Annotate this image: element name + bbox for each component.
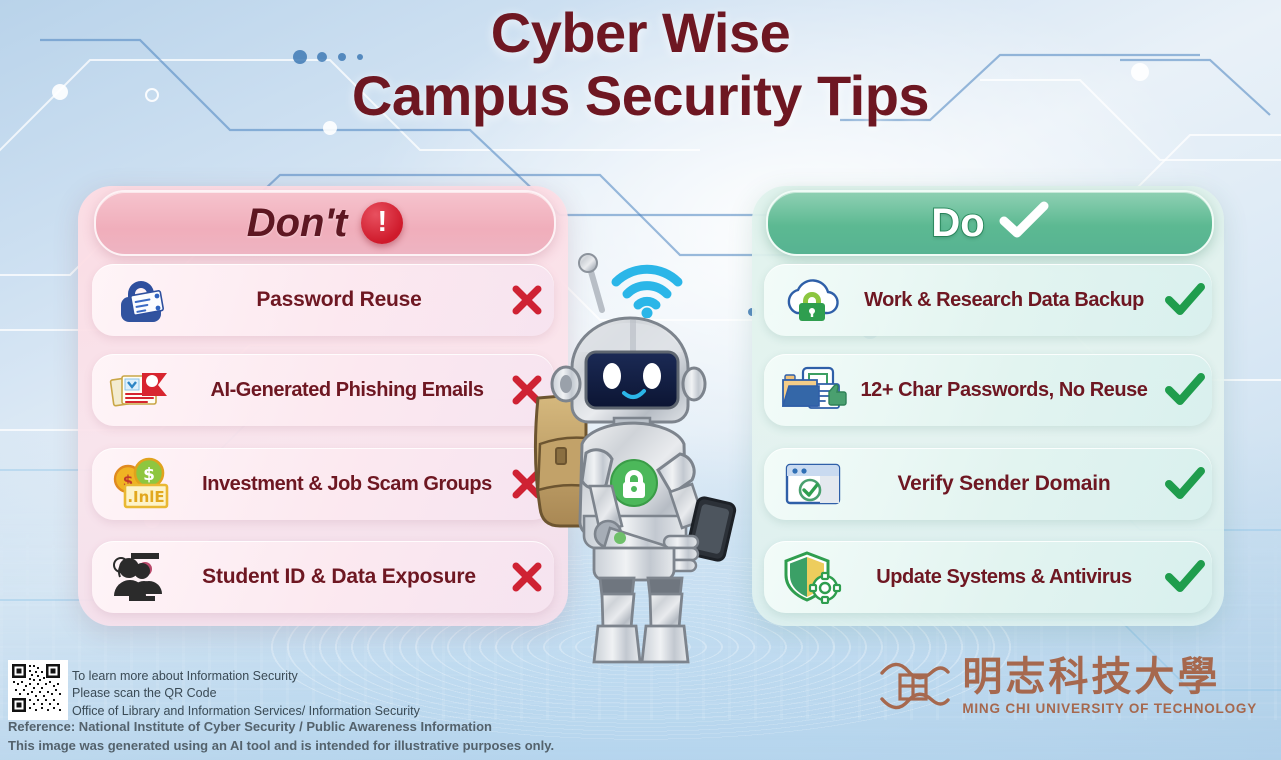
shield-gear-icon (776, 548, 850, 606)
do-item-data-backup[interactable]: Work & Research Data Backup (764, 264, 1212, 336)
poster-root: Cyber Wise Campus Security Tips Don't ! … (0, 0, 1281, 760)
dont-item-label: Investment & Job Scam Groups (178, 473, 516, 496)
phishing-email-icon (104, 361, 178, 419)
white-check-icon (999, 201, 1049, 246)
do-item-update-systems[interactable]: Update Systems & Antivirus (764, 541, 1212, 613)
dont-header: Don't ! (94, 190, 556, 256)
dont-item-password-reuse[interactable]: Password Reuse (92, 264, 554, 336)
do-item-label: Work & Research Data Backup (850, 289, 1158, 312)
qr-code-icon[interactable] (8, 660, 68, 720)
money-scam-icon: $ $ .InlE (104, 455, 178, 513)
dont-item-label: Password Reuse (178, 288, 500, 312)
svg-text:.InlE: .InlE (127, 488, 164, 506)
green-check-icon (1158, 560, 1212, 594)
folder-document-thumbsup-icon (776, 361, 850, 419)
dont-item-scam-groups[interactable]: $ $ .InlE Investment & Job Scam Groups (92, 448, 554, 520)
exclamation-circle-icon: ! (361, 202, 403, 244)
green-check-icon (1158, 373, 1212, 407)
title-line-2: Campus Security Tips (0, 65, 1281, 128)
browser-verified-icon (776, 455, 850, 513)
do-header-label: Do (931, 201, 984, 246)
title-line-1: Cyber Wise (0, 2, 1281, 65)
do-item-label: Verify Sender Domain (850, 472, 1158, 496)
qr-line-2: Please scan the QR Code (72, 685, 420, 702)
security-robot-mascot (524, 248, 768, 668)
disclaimer-text: This image was generated using an AI too… (8, 737, 554, 756)
university-name-chinese: 明志科技大學 (962, 657, 1220, 697)
reference-text: Reference: National Institute of Cyber S… (8, 718, 554, 737)
qr-instructions: To learn more about Information Security… (72, 668, 420, 720)
green-check-icon (1158, 283, 1212, 317)
do-item-verify-sender[interactable]: Verify Sender Domain (764, 448, 1212, 520)
dont-header-label: Don't (247, 201, 348, 246)
svg-text:$: $ (143, 465, 155, 485)
cloud-lock-icon (776, 271, 850, 329)
people-data-icon (104, 548, 178, 606)
qr-line-1: To learn more about Information Security (72, 668, 420, 685)
footer-notes: Reference: National Institute of Cyber S… (8, 718, 554, 756)
university-name-block: 明志科技大學 MING CHI UNIVERSITY OF TECHNOLOGY (962, 657, 1257, 716)
ming-chi-emblem-icon (878, 655, 952, 717)
padlock-card-icon (104, 271, 178, 329)
dont-item-label: AI-Generated Phishing Emails (178, 379, 516, 402)
do-header: Do (766, 190, 1214, 256)
university-name-english: MING CHI UNIVERSITY OF TECHNOLOGY (962, 701, 1257, 716)
dont-item-label: Student ID & Data Exposure (178, 565, 500, 589)
do-item-strong-passwords[interactable]: 12+ Char Passwords, No Reuse (764, 354, 1212, 426)
do-item-label: 12+ Char Passwords, No Reuse (850, 379, 1158, 402)
university-logo: 明志科技大學 MING CHI UNIVERSITY OF TECHNOLOGY (878, 655, 1257, 717)
dont-item-data-exposure[interactable]: Student ID & Data Exposure (92, 541, 554, 613)
poster-title: Cyber Wise Campus Security Tips (0, 2, 1281, 127)
dont-item-phishing-emails[interactable]: AI-Generated Phishing Emails (92, 354, 554, 426)
do-item-label: Update Systems & Antivirus (850, 566, 1158, 589)
green-check-icon (1158, 467, 1212, 501)
